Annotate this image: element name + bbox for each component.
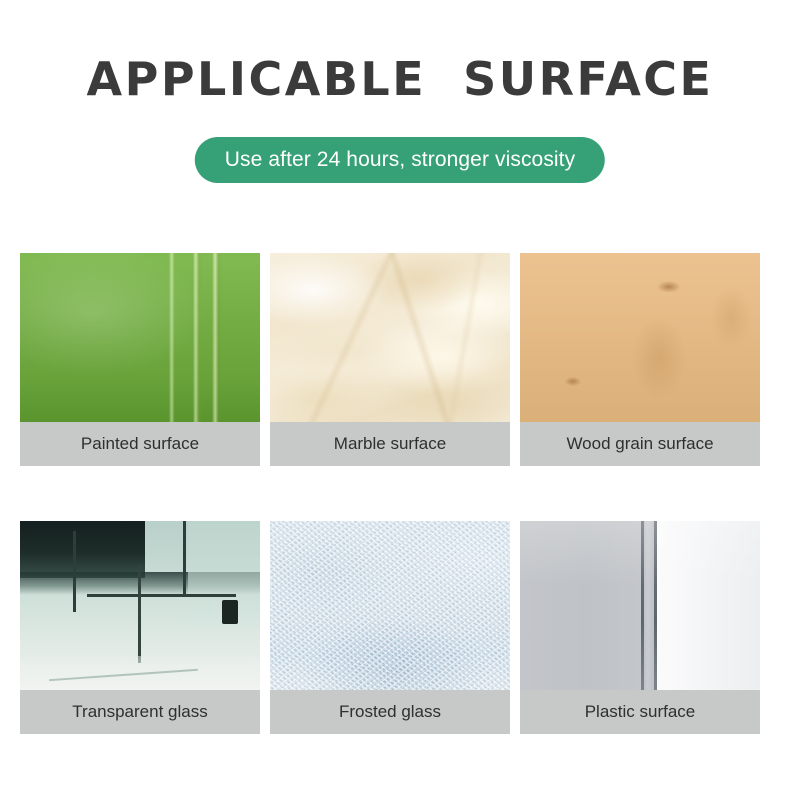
surface-card-marble: Marble surface bbox=[270, 253, 510, 466]
marble-texture bbox=[270, 253, 510, 422]
wood-grain-surface-image bbox=[520, 253, 760, 422]
page-title: APPLICABLE SURFACE bbox=[0, 52, 800, 106]
painted-surface-image bbox=[20, 253, 260, 422]
surface-card-frosted-glass: Frosted glass bbox=[270, 521, 510, 734]
glass-mullion-left bbox=[73, 531, 76, 612]
surface-card-painted: Painted surface bbox=[20, 253, 260, 466]
surface-caption-transparent-glass: Transparent glass bbox=[20, 690, 260, 734]
surface-card-wood-grain: Wood grain surface bbox=[520, 253, 760, 466]
surface-caption-marble: Marble surface bbox=[270, 422, 510, 466]
transparent-glass-texture bbox=[20, 521, 260, 690]
transparent-glass-image bbox=[20, 521, 260, 690]
plastic-texture bbox=[520, 521, 760, 690]
painted-panel-texture bbox=[20, 253, 260, 422]
plastic-panel-gray bbox=[520, 521, 641, 690]
surface-card-plastic: Plastic surface bbox=[520, 521, 760, 734]
surface-card-transparent-glass: Transparent glass bbox=[20, 521, 260, 734]
glass-dark-ceiling-region bbox=[20, 521, 145, 578]
marble-surface-image bbox=[270, 253, 510, 422]
surface-grid: Painted surface Marble surface Wood grai… bbox=[20, 253, 760, 734]
plastic-surface-image bbox=[520, 521, 760, 690]
subtitle-badge: Use after 24 hours, stronger viscosity bbox=[195, 137, 605, 183]
surface-caption-frosted-glass: Frosted glass bbox=[270, 690, 510, 734]
frosted-glass-texture bbox=[270, 521, 510, 690]
glass-rail-horizontal bbox=[87, 594, 236, 597]
surface-caption-plastic: Plastic surface bbox=[520, 690, 760, 734]
plastic-panel-white bbox=[658, 521, 760, 690]
wood-grain-texture bbox=[520, 253, 760, 422]
plastic-seam-left bbox=[641, 521, 644, 690]
glass-door-handle bbox=[222, 600, 238, 624]
frosted-glass-image bbox=[270, 521, 510, 690]
plastic-seam-right bbox=[654, 521, 657, 690]
glass-door-edge bbox=[138, 565, 141, 663]
surface-caption-wood-grain: Wood grain surface bbox=[520, 422, 760, 466]
glass-mullion-right bbox=[183, 521, 186, 595]
surface-caption-painted: Painted surface bbox=[20, 422, 260, 466]
